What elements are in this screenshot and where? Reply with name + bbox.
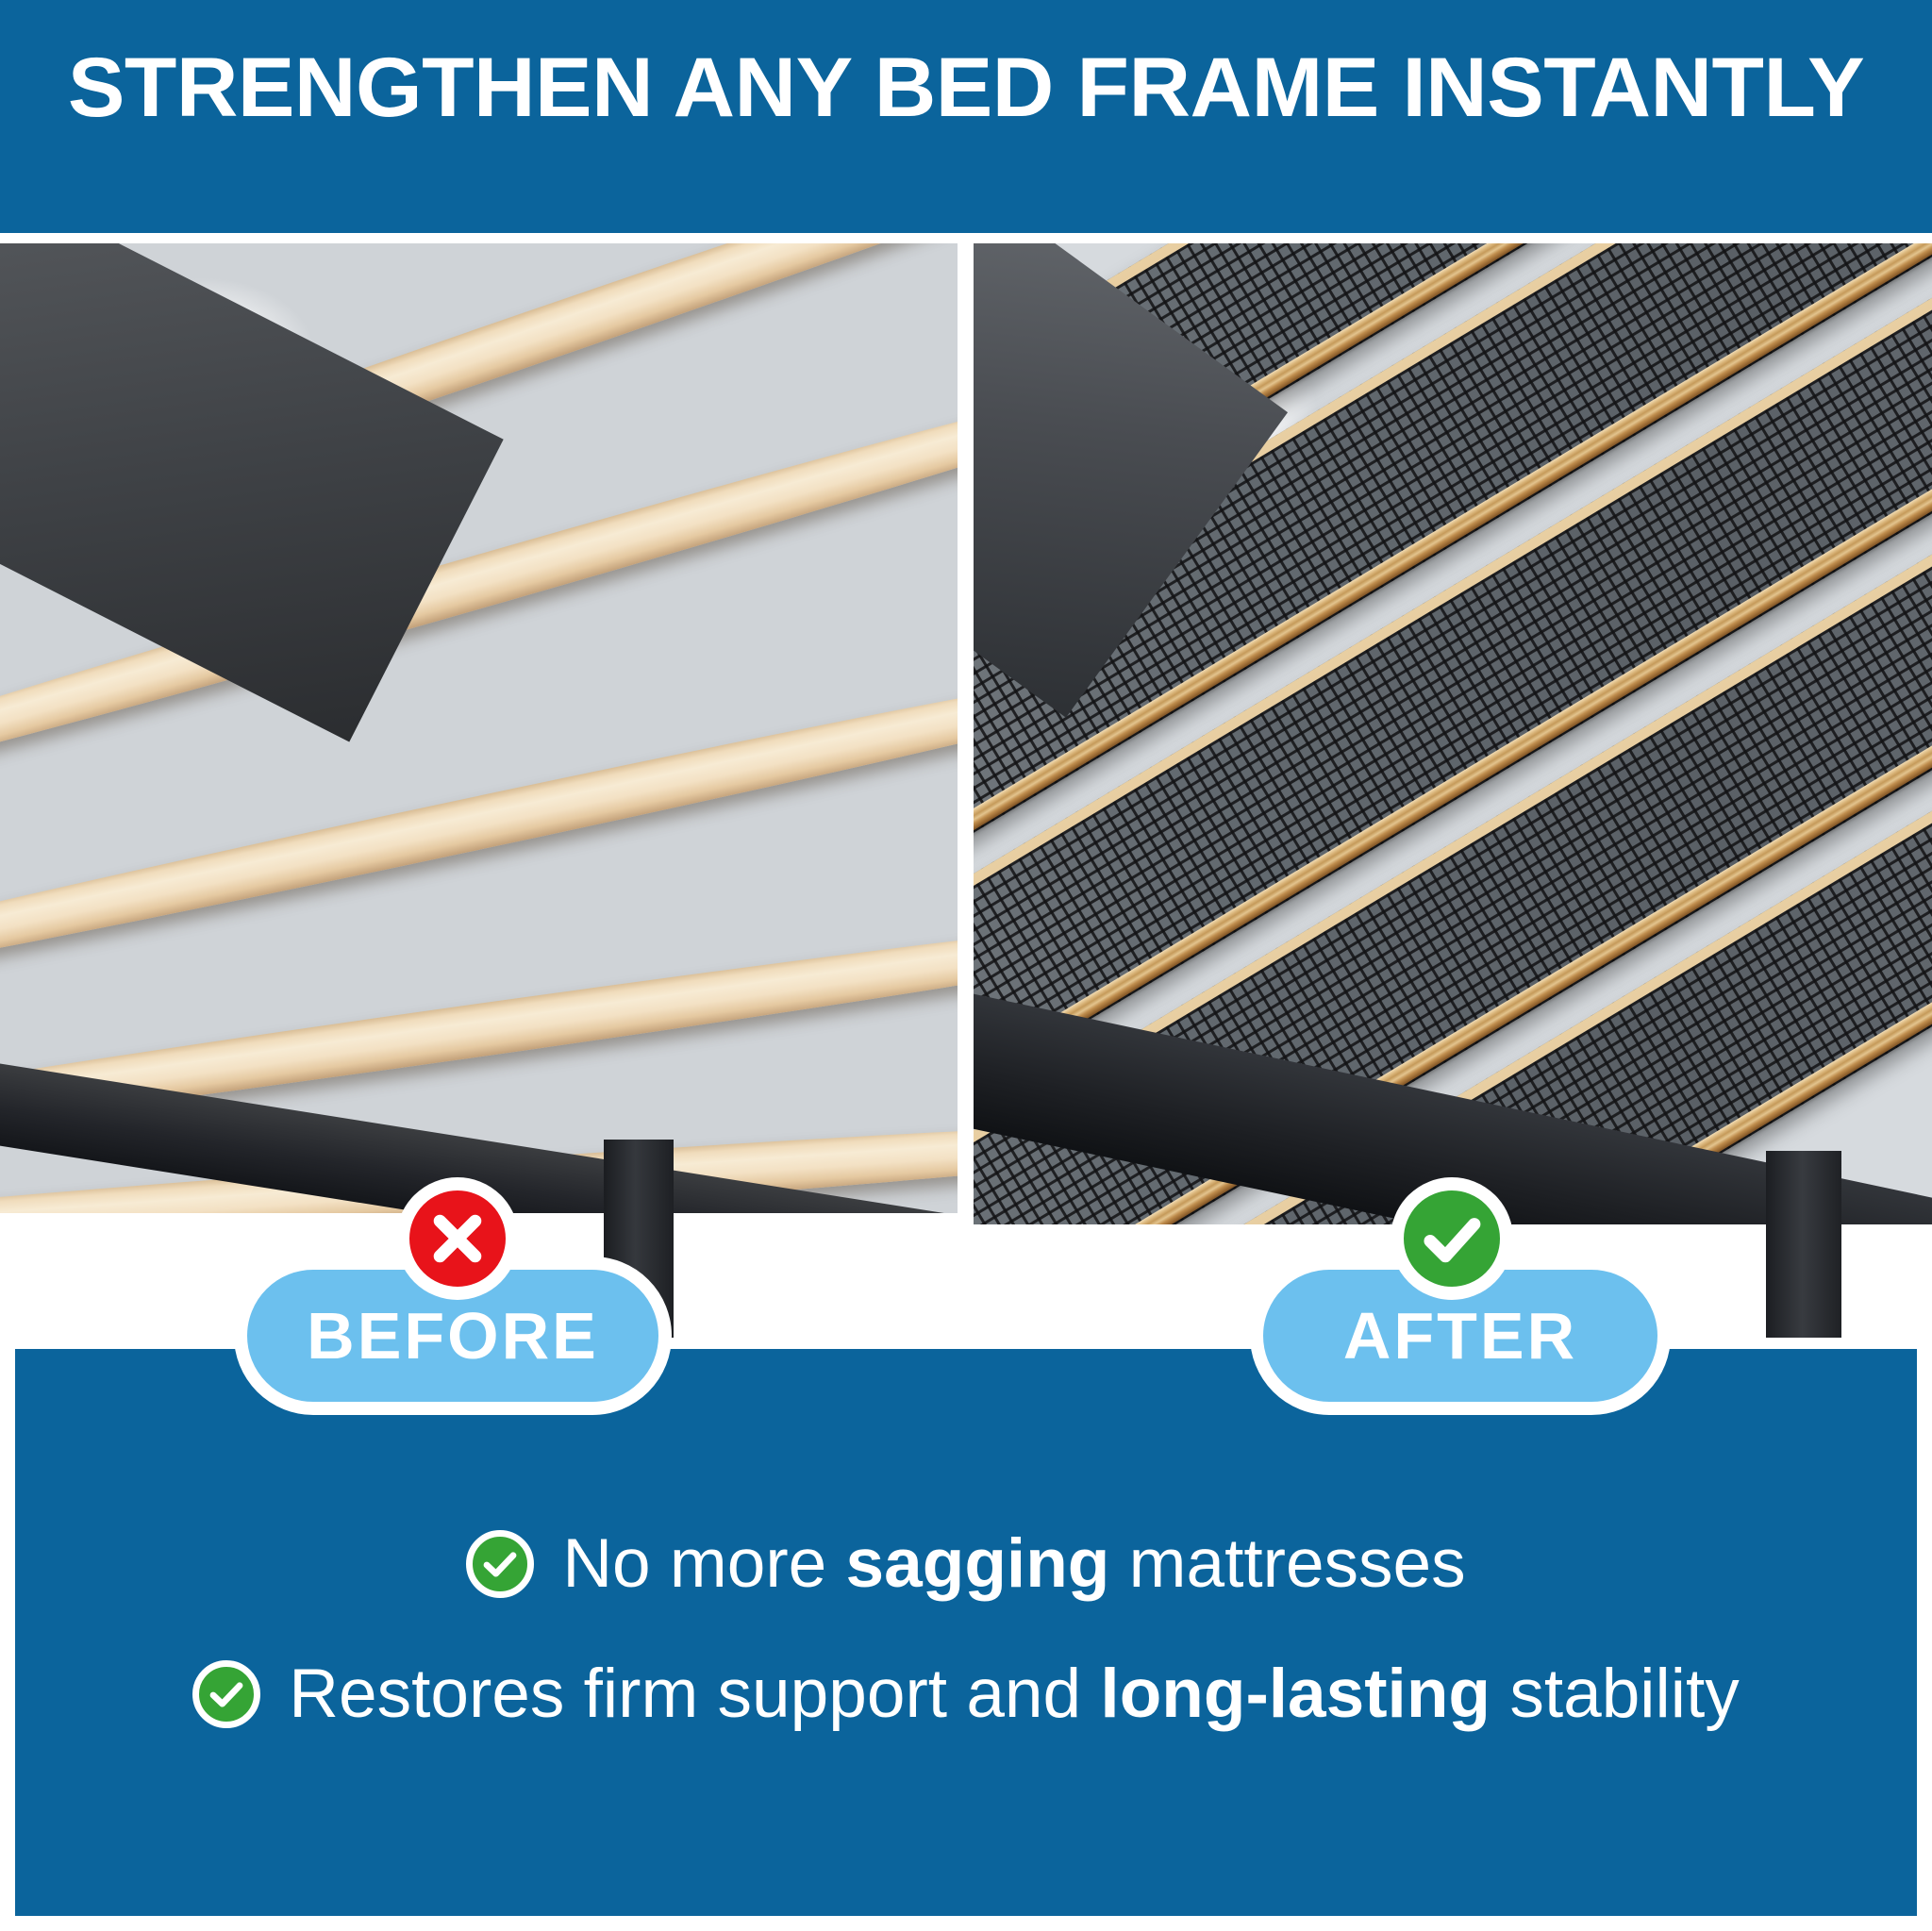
after-photo	[974, 243, 1932, 1338]
header-band: STRENGTHEN ANY BED FRAME INSTANTLY	[0, 0, 1932, 233]
benefit-text-tail: stability	[1491, 1656, 1740, 1732]
check-icon	[1391, 1177, 1513, 1300]
benefits-list: No more sagging mattresses Restores firm…	[15, 1526, 1917, 1787]
cross-icon	[396, 1177, 519, 1300]
benefits-panel: No more sagging mattresses Restores firm…	[15, 1349, 1917, 1916]
after-frame-leg	[1766, 1151, 1841, 1338]
after-scene	[974, 243, 1932, 1338]
infographic-root: STRENGTHEN ANY BED FRAME INSTANTLY	[0, 0, 1932, 1931]
check-circle-icon	[192, 1660, 260, 1728]
before-badge-label: BEFORE	[307, 1303, 599, 1369]
after-badge-label: AFTER	[1343, 1303, 1577, 1369]
page-title: STRENGTHEN ANY BED FRAME INSTANTLY	[0, 40, 1932, 134]
before-photo	[0, 243, 958, 1338]
benefit-item: Restores firm support and long-lasting s…	[15, 1656, 1917, 1732]
benefit-text-lead: Restores firm support and	[289, 1656, 1100, 1732]
benefit-text: No more sagging mattresses	[562, 1526, 1465, 1602]
benefit-text-emphasis: sagging	[846, 1525, 1110, 1602]
benefit-text-tail: mattresses	[1109, 1525, 1465, 1602]
comparison-photo-row	[0, 243, 1932, 1338]
check-circle-icon	[466, 1530, 534, 1598]
before-scene	[0, 243, 958, 1338]
benefit-item: No more sagging mattresses	[15, 1526, 1917, 1602]
benefit-text-lead: No more	[562, 1525, 845, 1602]
benefit-text-emphasis: long-lasting	[1100, 1656, 1491, 1732]
benefit-text: Restores firm support and long-lasting s…	[289, 1656, 1739, 1732]
